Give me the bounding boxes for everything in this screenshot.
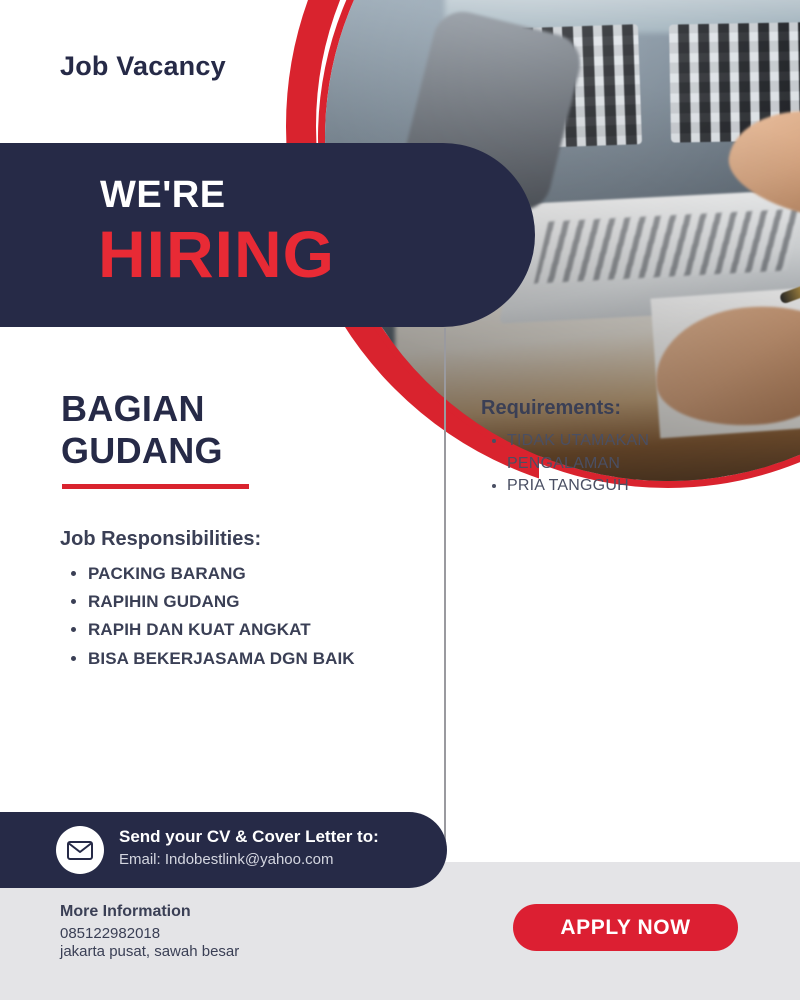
apply-now-button[interactable]: APPLY NOW xyxy=(513,904,738,951)
contact-address: jakarta pusat, sawah besar xyxy=(60,943,239,960)
list-item: BISA BEKERJASAMA DGN BAIK xyxy=(88,645,355,673)
responsibilities-list: PACKING BARANG RAPIHIN GUDANG RAPIH DAN … xyxy=(60,560,355,673)
job-vacancy-poster: Job Vacancy WE'RE HIRING BAGIAN GUDANG J… xyxy=(0,0,800,1000)
more-information-heading: More Information xyxy=(60,903,191,921)
job-title-line1: BAGIAN xyxy=(61,388,223,430)
envelope-icon xyxy=(56,826,104,874)
list-item: RAPIH DAN KUAT ANGKAT xyxy=(88,616,355,644)
list-item: PACKING BARANG xyxy=(88,560,355,588)
page-title: Job Vacancy xyxy=(60,51,226,82)
job-position-title: BAGIAN GUDANG xyxy=(61,388,223,473)
contact-phone[interactable]: 085122982018 xyxy=(60,925,160,942)
job-title-line2: GUDANG xyxy=(61,430,223,472)
requirements-heading: Requirements: xyxy=(481,397,621,420)
cv-email-address[interactable]: Email: Indobestlink@yahoo.com xyxy=(119,851,334,868)
responsibilities-heading: Job Responsibilities: xyxy=(60,528,261,551)
list-item: PRIA TANGGUH xyxy=(507,475,717,498)
banner-line-hiring: HIRING xyxy=(98,216,335,292)
list-item: RAPIHIN GUDANG xyxy=(88,588,355,616)
list-item: TIDAK UTAMAKAN PENGALAMAN xyxy=(507,430,717,475)
banner-line-were: WE'RE xyxy=(100,174,226,217)
cv-instruction-text: Send your CV & Cover Letter to: xyxy=(119,827,379,847)
title-underline xyxy=(62,484,249,489)
requirements-list: TIDAK UTAMAKAN PENGALAMAN PRIA TANGGUH xyxy=(481,430,717,498)
column-divider xyxy=(444,328,446,846)
